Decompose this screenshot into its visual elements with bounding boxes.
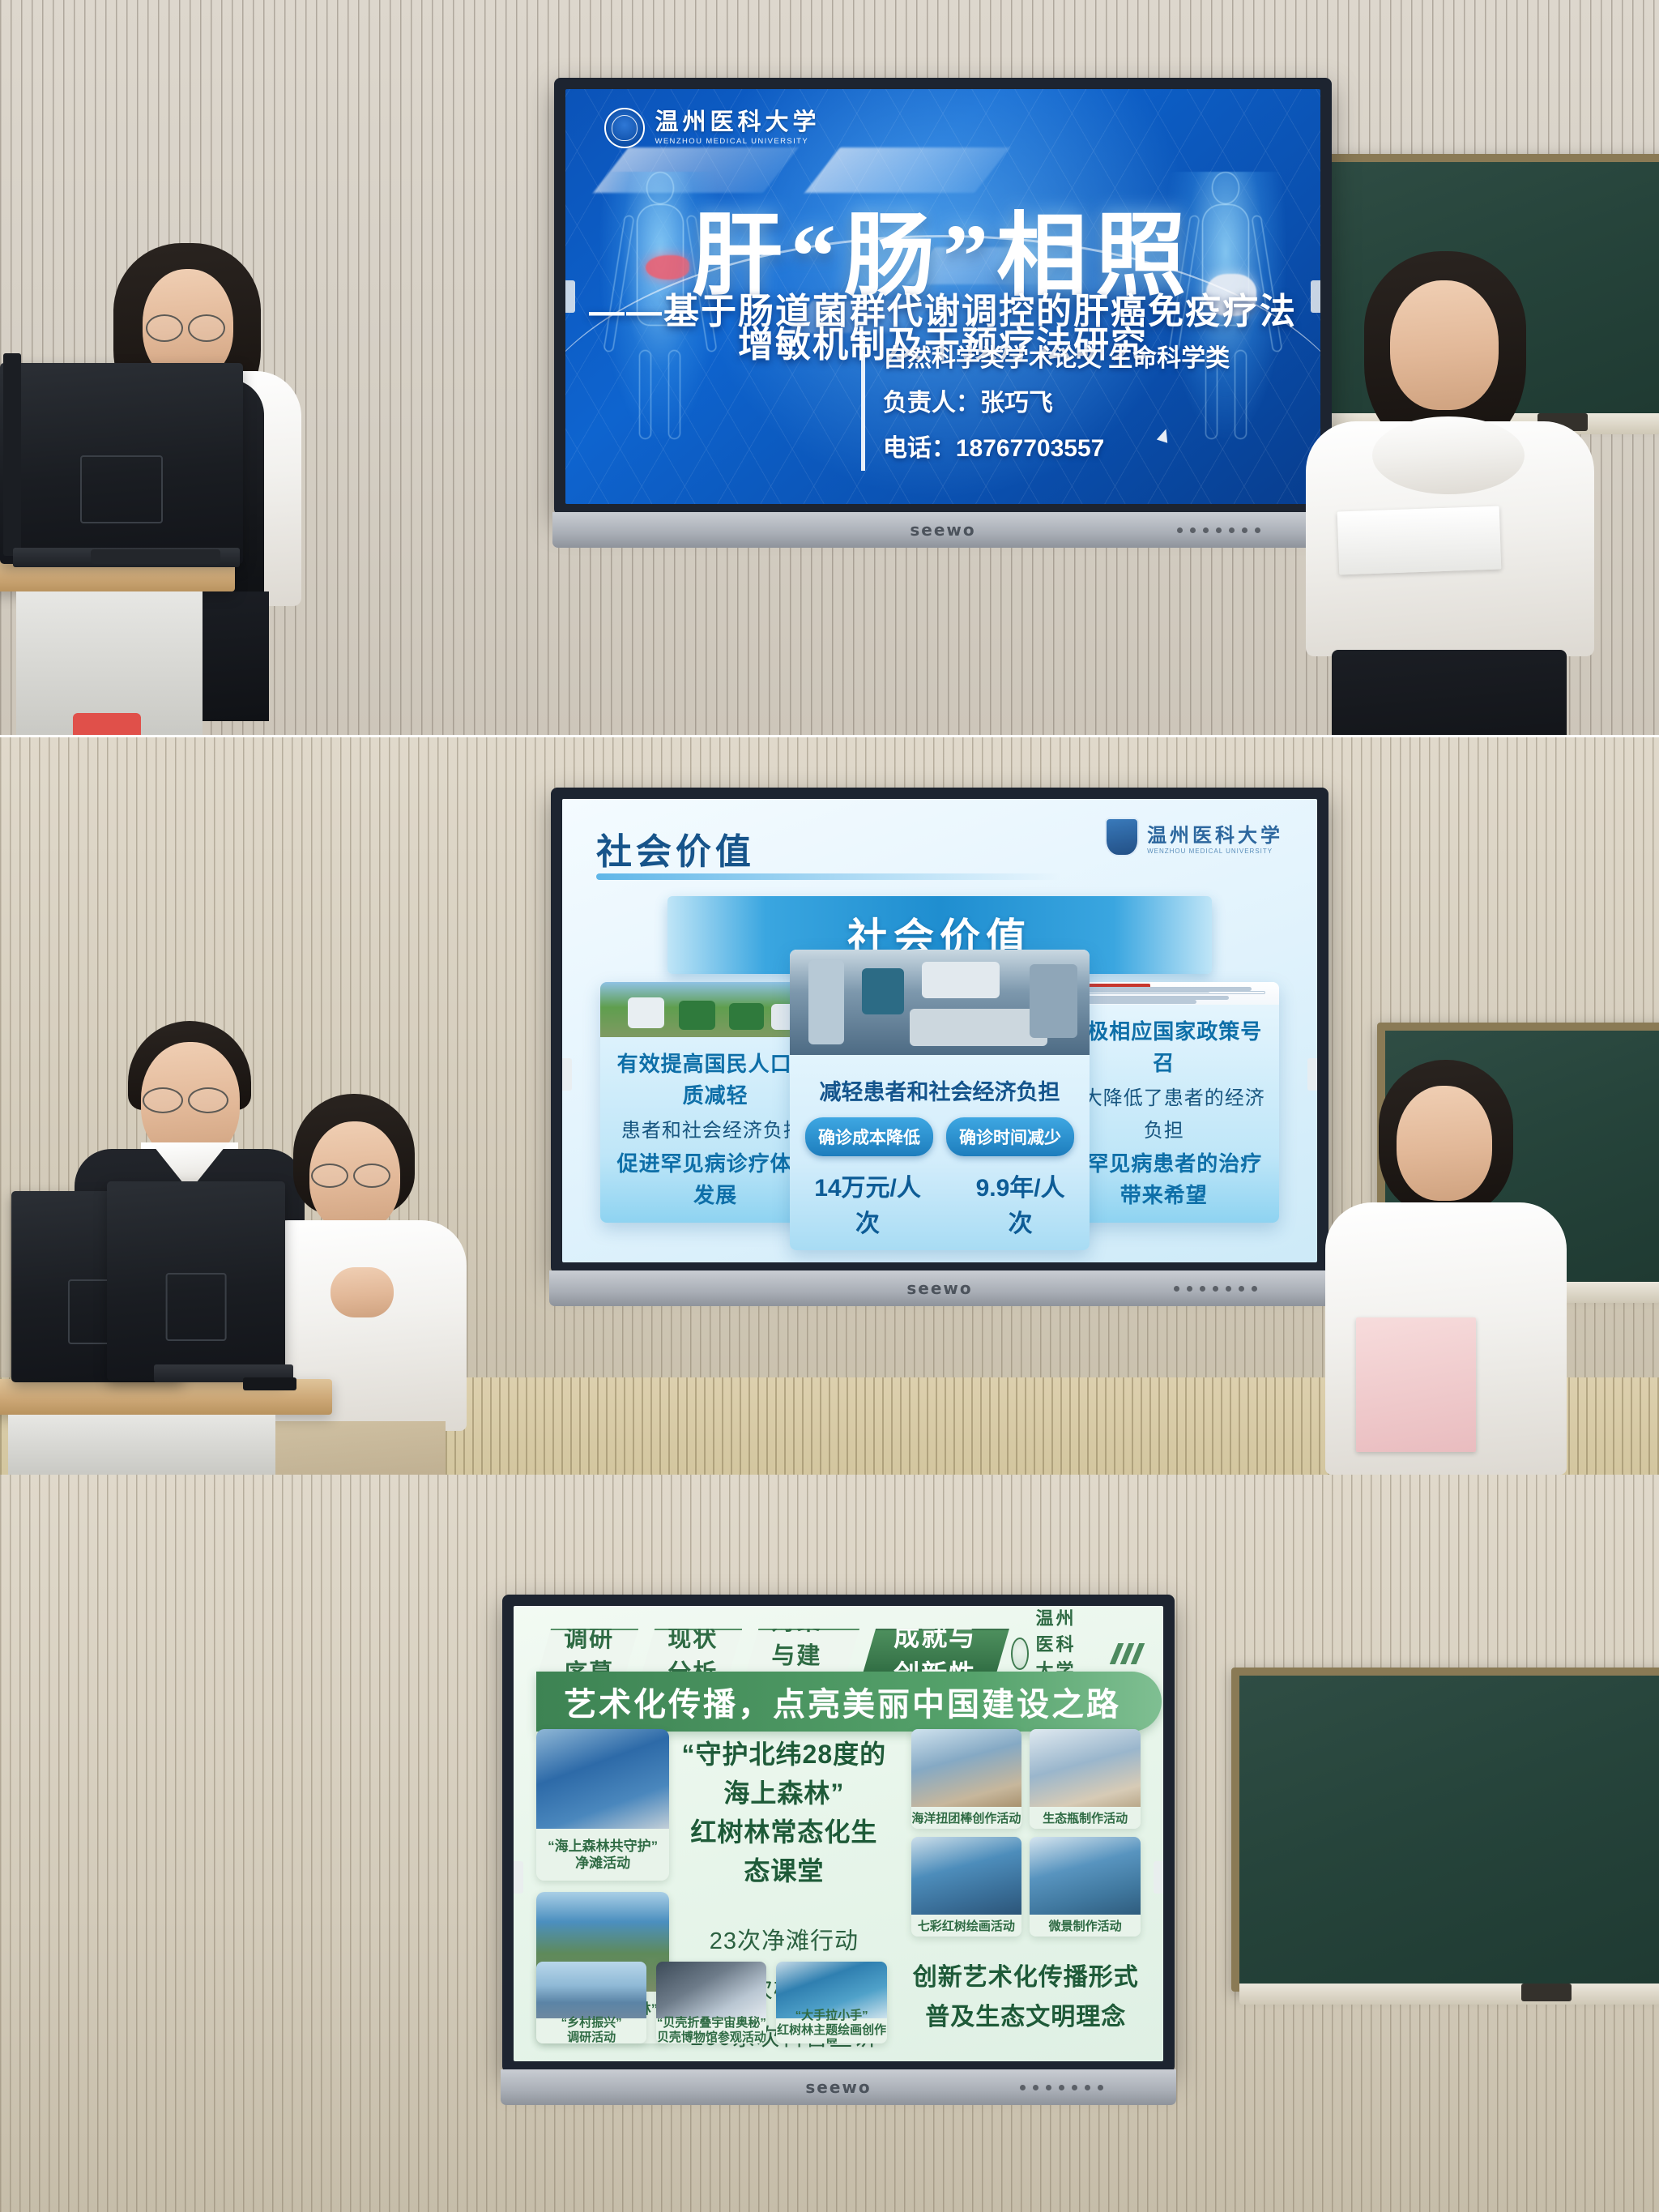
grid-cell-marine-craft: 海洋扭团棒创作活动 [911, 1729, 1022, 1829]
university-logo: 温州医科大学 WENZHOU MEDICAL UNIVERSITY [604, 108, 820, 148]
gesturing-hand [331, 1267, 394, 1317]
interactive-whiteboard-panel-2[interactable]: 社会价值 温州医科大学 WENZHOU MEDICAL UNIVERSITY 社… [551, 788, 1328, 1274]
card-right-line-1: 积极相应国家政策号召 [1061, 1016, 1266, 1079]
thumb-caption: “海上森林共守护” 净滩活动 [536, 1829, 669, 1881]
photo [911, 1729, 1022, 1807]
center-heading-1: “守护北纬28度的海上森林” [681, 1735, 887, 1813]
slide-header-title: 社会价值 [596, 822, 755, 874]
university-name-cn: 温州医科大学 [1147, 819, 1283, 848]
section-banner: 艺术化传播，点亮美丽中国建设之路 [536, 1672, 1162, 1732]
thumb-shell-museum: “贝壳折叠宇宙奥秘” 贝壳博物馆参观活动 [656, 1962, 766, 2043]
red-container [73, 713, 141, 737]
glasses-icon [311, 1164, 348, 1188]
thumb-caption: “大手拉小手” 红树林主题绘画创作展 [776, 2018, 886, 2043]
blackboard [1231, 1668, 1659, 1992]
bottom-thumbnail-row: “乡村振兴” 调研活动 “贝壳折叠宇宙奥秘” 贝壳博物馆参观活动 [536, 1962, 887, 2043]
card-right-line-2: 极大降低了患者的经济负担 [1061, 1083, 1266, 1149]
grid-cell-micro-landscape: 微景制作活动 [1030, 1837, 1141, 1937]
screen-left-nub[interactable] [565, 280, 575, 313]
stat-item: 23次净滩行动 [681, 1918, 887, 1966]
presentation-notes-paper[interactable] [1337, 506, 1502, 575]
monitor-left[interactable] [0, 363, 243, 564]
photo [656, 1962, 766, 2019]
photo [911, 1837, 1022, 1915]
grid-caption: 微景制作活动 [1030, 1915, 1141, 1937]
glasses-icon [146, 314, 183, 342]
center-heading-2: 红树林常态化生态课堂 [681, 1813, 887, 1890]
pink-folder[interactable] [1356, 1317, 1476, 1452]
caption-line-1: “贝壳折叠宇宙奥秘” [657, 2016, 766, 2031]
pill-cost: 确诊成本降低 [805, 1117, 933, 1156]
display-chin-bar: seewo [552, 512, 1333, 548]
value-cost: 14万元/人次 [803, 1168, 932, 1239]
meta-category: 自然科学类学术论文 生命科学类 [883, 336, 1230, 382]
black-skirt [1332, 650, 1567, 737]
input-device-left[interactable] [91, 549, 220, 564]
grid-cell-eco-bottle: 生态瓶制作活动 [1030, 1729, 1141, 1829]
photo [536, 1962, 646, 2019]
university-name-cn: 温州医科大学 [1036, 1606, 1095, 1682]
phone-on-desk[interactable] [243, 1377, 296, 1390]
person-presenter-right [1288, 251, 1612, 737]
value-time: 9.9年/人次 [965, 1168, 1077, 1239]
university-crest-icon [604, 108, 645, 148]
university-name-en: WENZHOU MEDICAL UNIVERSITY [655, 137, 820, 146]
grid-caption: 生态瓶制作活动 [1030, 1807, 1141, 1829]
monitor-b[interactable] [107, 1181, 285, 1381]
caption-line-2: 净滩活动 [575, 1855, 630, 1872]
decorative-slashes-icon [1114, 1643, 1141, 1664]
card-left-line-1: 有效提高国民人口素质减轻 [613, 1048, 818, 1112]
card-middle-title: 减轻患者和社会经济负担 [803, 1074, 1076, 1106]
blackboard-eraser [1521, 1984, 1572, 2001]
right-gallery-column: 海洋扭团棒创作活动 生态瓶制作活动 七彩红树绘画活动 [911, 1729, 1141, 2043]
thumb-caption: “乡村振兴” 调研活动 [536, 2018, 646, 2043]
display-indicator-dots [1020, 2085, 1103, 2090]
footer-line-2: 普及生态文明理念 [911, 1997, 1141, 2038]
caption-line-2: 调研活动 [567, 2031, 616, 2043]
caption-line-1: “大手拉小手” [795, 2009, 868, 2023]
footer-line-1: 创新艺术化传播形式 [911, 1958, 1141, 1998]
display-indicator-dots [1177, 527, 1260, 533]
value-cards-container: 有效提高国民人口素质减轻 患者和社会经济负担, 促进罕见病诊疗体系发展 [600, 966, 1280, 1240]
khaki-trousers [275, 1421, 446, 1475]
photo [536, 1729, 669, 1829]
card-middle-body: 减轻患者和社会经济负担 确诊成本降低 确诊时间减少 14万元/人次 9.9年/人… [790, 1055, 1089, 1250]
thumb-beach-cleanup: “海上森林共守护” 净滩活动 [536, 1729, 669, 1881]
university-name-en: WENZHOU MEDICAL UNIVERSITY [1147, 848, 1283, 855]
interactive-whiteboard-panel-3[interactable]: 调研序幕 现状分析 对策与建议 成就与创新性 [502, 1595, 1175, 2073]
interactive-whiteboard-panel-1[interactable]: 温州医科大学 WENZHOU MEDICAL UNIVERSITY 肝“肠”相照… [554, 78, 1332, 515]
caption-line-1: “乡村振兴” [561, 2016, 622, 2031]
photo [1030, 1729, 1141, 1807]
panel-achievements-slide: 调研序幕 现状分析 对策与建议 成就与创新性 [0, 1475, 1659, 2212]
screen-right-nub[interactable] [1154, 1861, 1163, 1894]
university-name-cn: 温州医科大学 [655, 110, 820, 135]
slide-screen-2: 社会价值 温州医科大学 WENZHOU MEDICAL UNIVERSITY 社… [562, 799, 1317, 1262]
glasses-icon [143, 1087, 183, 1113]
grid-caption: 七彩红树绘画活动 [911, 1915, 1022, 1937]
ruffled-collar [1372, 416, 1525, 494]
face [1397, 1086, 1492, 1201]
right-footer-text: 创新艺术化传播形式 普及生态文明理念 [911, 1958, 1141, 2038]
glasses-icon [188, 314, 225, 342]
display-chin-bar: seewo [549, 1270, 1330, 1306]
caption-line-1: “海上森林共守护” [548, 1838, 658, 1855]
display-indicator-dots [1174, 1286, 1257, 1292]
panel-title-slide: 温州医科大学 WENZHOU MEDICAL UNIVERSITY 肝“肠”相照… [0, 0, 1659, 737]
photo-icu-room [790, 950, 1089, 1055]
metric-values: 14万元/人次 9.9年/人次 [803, 1168, 1076, 1239]
slide-screen-3: 调研序幕 现状分析 对策与建议 成就与创新性 [514, 1606, 1163, 2061]
header-rule [596, 873, 1060, 880]
meta-leader: 负责人：张巧飞 [883, 381, 1230, 426]
slide-meta-block: 自然科学类学术论文 生命科学类 负责人：张巧飞 电话：18767703557 [861, 336, 1230, 472]
person-waiting-right [1312, 1060, 1580, 1475]
slide-screen-1: 温州医科大学 WENZHOU MEDICAL UNIVERSITY 肝“肠”相照… [565, 89, 1320, 504]
thumb-rural-survey: “乡村振兴” 调研活动 [536, 1962, 646, 2043]
panel-social-value-slide: 社会价值 温州医科大学 WENZHOU MEDICAL UNIVERSITY 社… [0, 737, 1659, 1475]
card-left-line-3: 促进罕见病诊疗体系发展 [613, 1148, 818, 1211]
pill-time: 确诊时间减少 [946, 1117, 1074, 1156]
caption-line-2: 红树林主题绘画创作展 [776, 2023, 886, 2043]
monitor-vesa-mount [80, 455, 163, 523]
display-brand-label: seewo [906, 1279, 972, 1298]
slide-2: 社会价值 温州医科大学 WENZHOU MEDICAL UNIVERSITY 社… [562, 799, 1317, 1262]
grid-cell-painting: 七彩红树绘画活动 [911, 1837, 1022, 1937]
screen-left-nub[interactable] [514, 1861, 523, 1894]
glasses-icon [188, 1087, 228, 1113]
card-left-line-2: 患者和社会经济负担, [613, 1115, 818, 1148]
photo-collage: 温州医科大学 WENZHOU MEDICAL UNIVERSITY 肝“肠”相照… [0, 0, 1659, 2212]
thumb-painting-exhibit: “大手拉小手” 红树林主题绘画创作展 [776, 1962, 886, 2043]
slide-content: “海上森林共守护” 净滩活动 “认养一棵红树林” 植树活动 [536, 1729, 1141, 2043]
grid-caption: 海洋扭团棒创作活动 [911, 1807, 1022, 1829]
glasses-icon [353, 1164, 390, 1188]
face [1390, 280, 1499, 410]
slide-3: 调研序幕 现状分析 对策与建议 成就与创新性 [514, 1606, 1163, 2061]
card-middle: 减轻患者和社会经济负担 确诊成本降低 确诊时间减少 14万元/人次 9.9年/人… [790, 950, 1089, 1250]
thumb-caption: “贝壳折叠宇宙奥秘” 贝壳博物馆参观活动 [656, 2018, 766, 2043]
university-logo: 温州医科大学 WENZHOU MEDICAL UNIVERSITY [1105, 818, 1283, 856]
display-chin-bar: seewo [501, 2069, 1176, 2105]
chalk-tray [1239, 1984, 1659, 2005]
university-crest-icon [1105, 818, 1139, 856]
meta-phone: 电话：18767703557 [883, 426, 1230, 472]
metric-pills: 确诊成本降低 确诊时间减少 [803, 1117, 1076, 1156]
display-brand-label: seewo [910, 520, 975, 540]
display-brand-label: seewo [805, 2077, 871, 2097]
slide-1: 温州医科大学 WENZHOU MEDICAL UNIVERSITY 肝“肠”相照… [565, 89, 1320, 504]
activity-photo-grid: 海洋扭团棒创作活动 生态瓶制作活动 七彩红树绘画活动 [911, 1729, 1141, 1937]
university-crest-icon [1011, 1638, 1029, 1670]
monitor-arm-left [3, 353, 21, 556]
screen-left-nub[interactable] [562, 1058, 572, 1091]
monitor-vesa-mount [166, 1273, 227, 1341]
caption-line-2: 贝壳博物馆参观活动 [657, 2031, 766, 2043]
podium-base-center [8, 1415, 275, 1475]
photo [1030, 1837, 1141, 1915]
card-right-line-3: 为罕见病患者的治疗带来希望 [1061, 1148, 1266, 1211]
